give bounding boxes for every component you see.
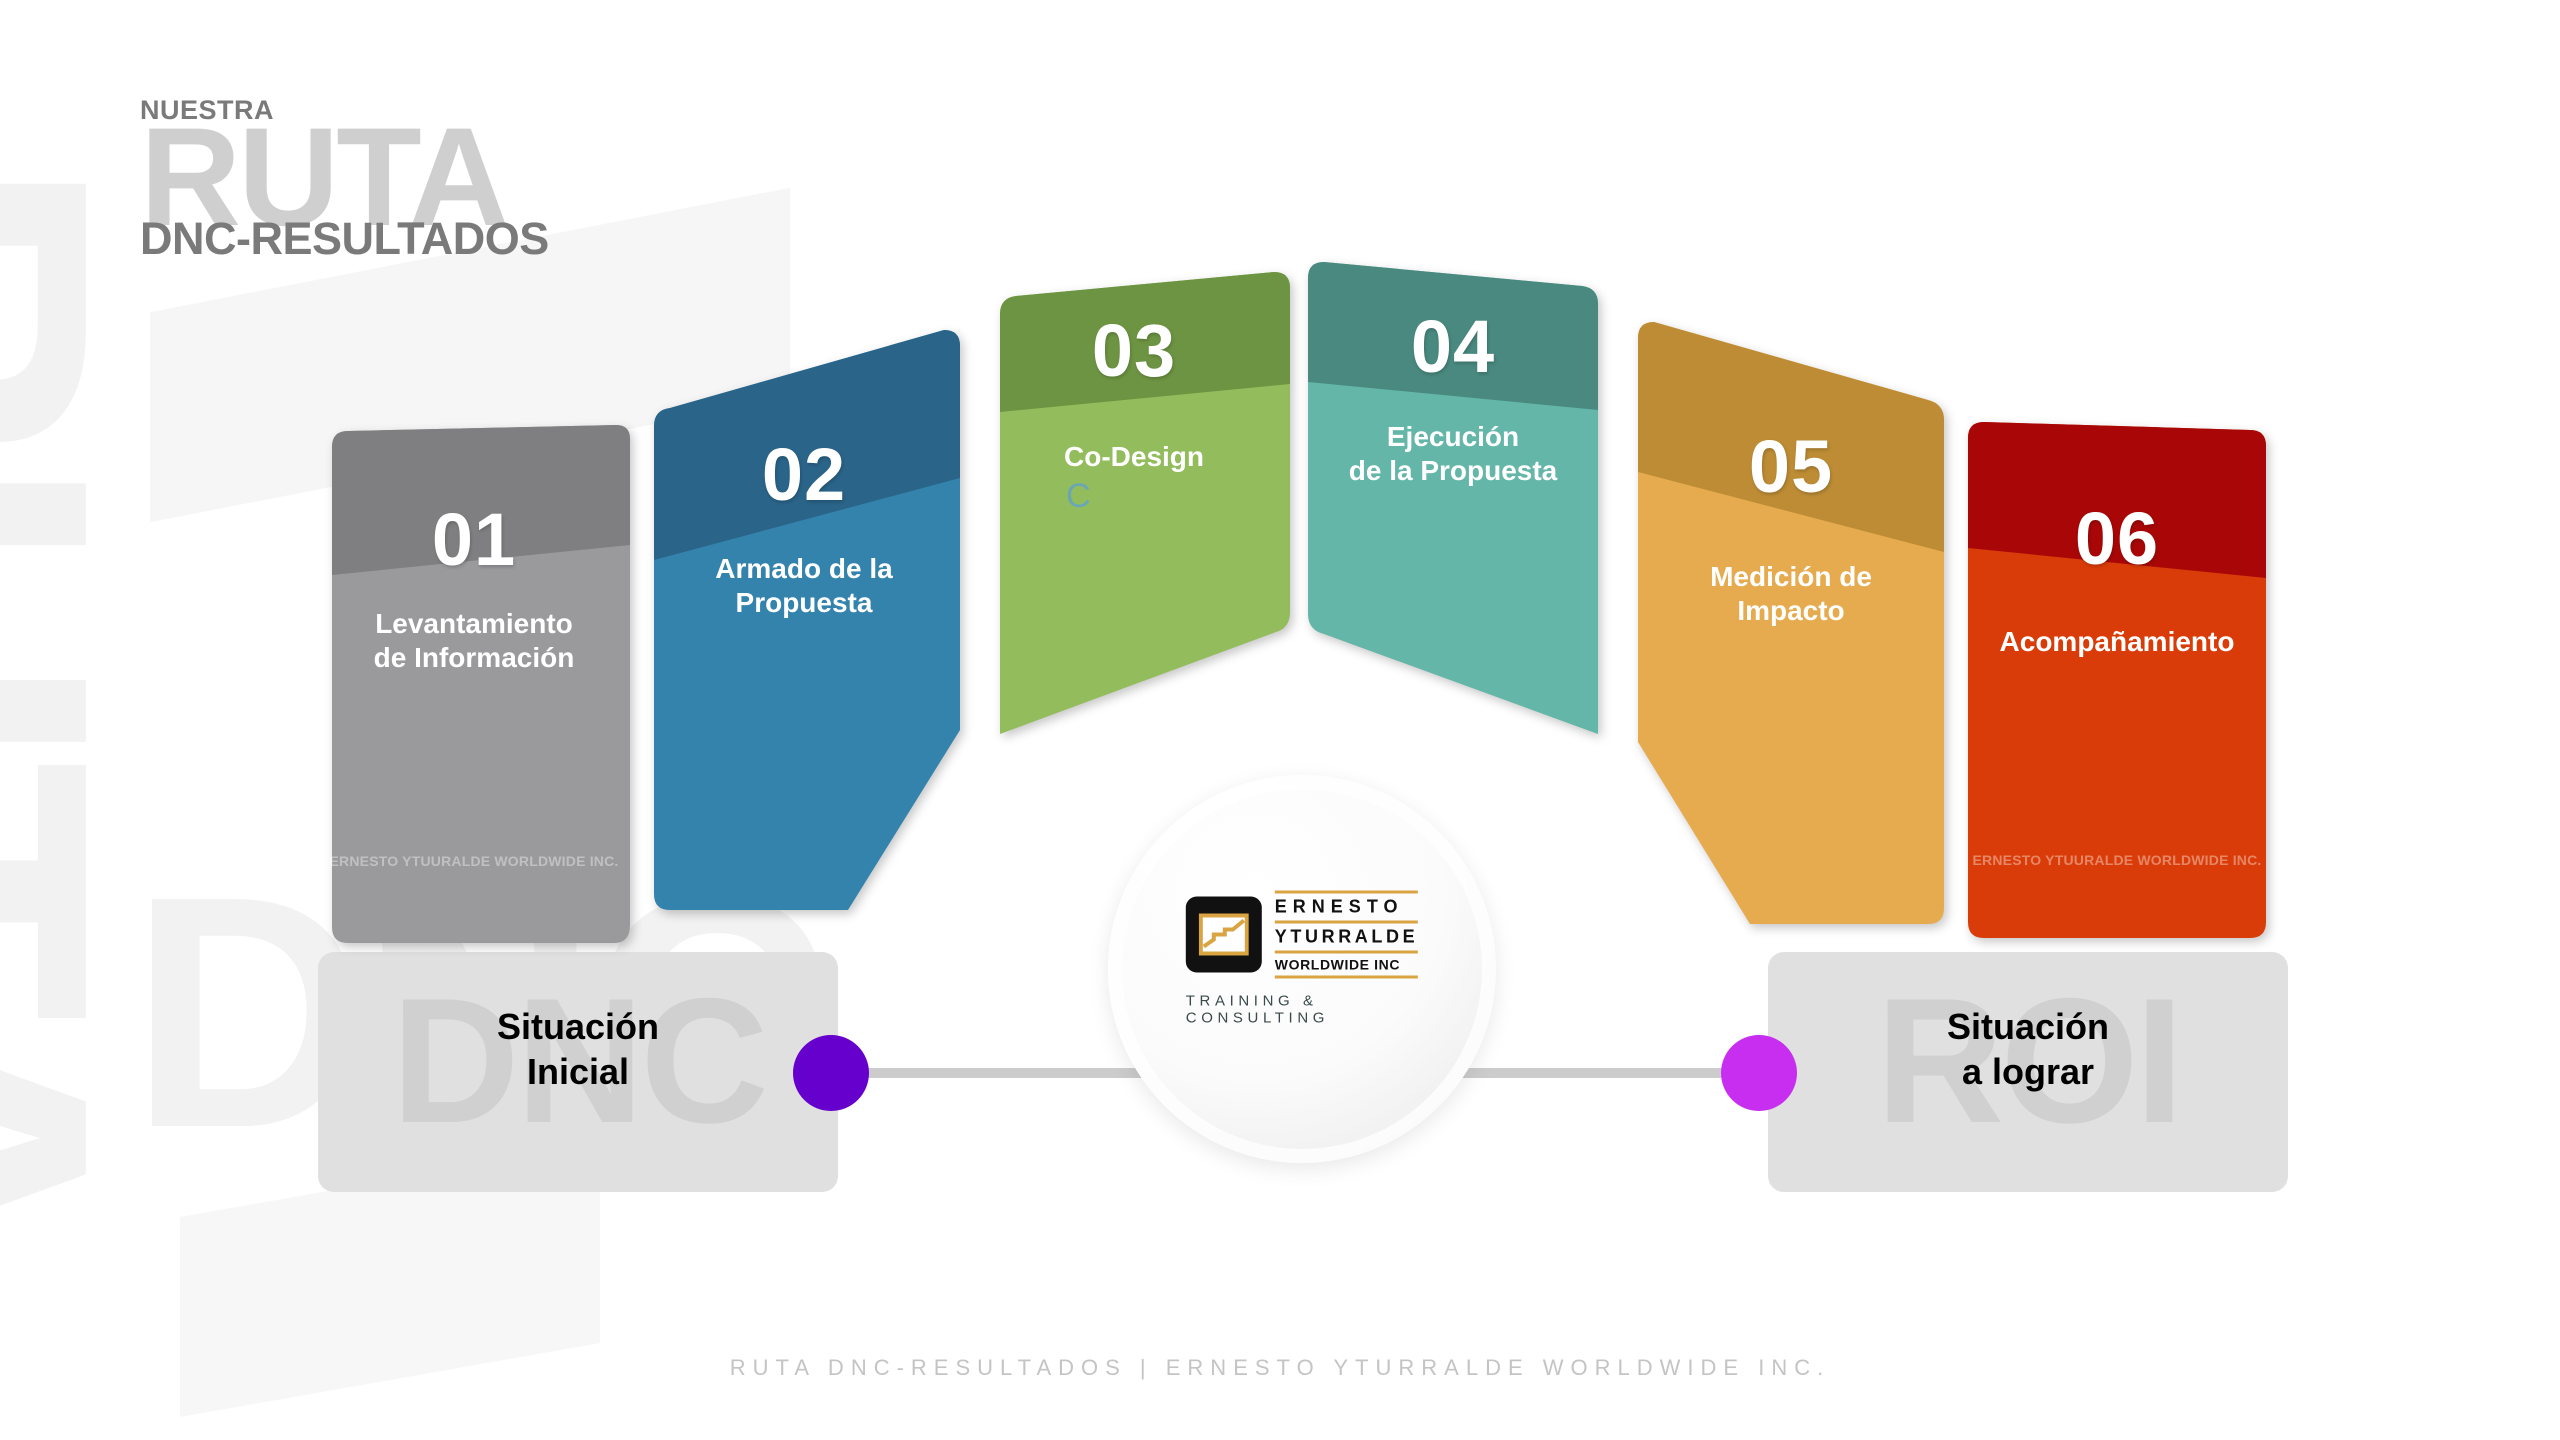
step-card-02-title-line2: Propuesta (648, 586, 960, 620)
step-card-04-number: 04 (1308, 310, 1598, 384)
logo-rule-mid2 (1275, 951, 1418, 954)
logo-rule-mid1 (1275, 921, 1418, 924)
step-card-02[interactable]: 02 Armado de la Propuesta (648, 330, 960, 910)
step-card-05[interactable]: 05 Medición de Impacto (1638, 322, 1950, 924)
step-card-01-title-line2: de Información (318, 641, 630, 675)
step-card-04[interactable]: 04 Ejecución de la Propuesta (1308, 262, 1620, 734)
logo-rule-bottom (1275, 976, 1418, 979)
step-card-06-title-line1: Acompañamiento (1968, 625, 2266, 659)
chart-growth-icon (1186, 897, 1262, 973)
step-card-05-number: 05 (1638, 430, 1944, 504)
step-card-03-number: 03 (978, 314, 1290, 388)
step-card-01-watermark: ERNESTO YTUURALDE WORLDWIDE INC. (318, 853, 630, 869)
milestone-dot-goal (1721, 1035, 1797, 1111)
step-card-03[interactable]: 03 Co-Design C (978, 272, 1290, 734)
step-card-02-number: 02 (648, 438, 960, 512)
chart-growth-icon-svg (1199, 914, 1249, 956)
company-logo-content: ERNESTO YTURRALDE WORLDWIDE INC TRAINING… (1186, 888, 1418, 1027)
page-header: NUESTRA RUTA DNC-RESULTADOS (140, 95, 549, 265)
step-card-01-title: Levantamiento de Información (318, 607, 630, 675)
step-card-05-title-line2: Impacto (1638, 594, 1944, 628)
step-card-02-title-line1: Armado de la (648, 552, 960, 586)
logo-line-worldwide: WORLDWIDE INC (1275, 957, 1418, 973)
step-card-03-title-line1: Co-Design (978, 440, 1290, 474)
logo-line-ernesto: ERNESTO (1275, 897, 1418, 918)
page-footer: RUTA DNC-RESULTADOS | ERNESTO YTURRALDE … (0, 1355, 2560, 1381)
step-card-01-title-line1: Levantamiento (318, 607, 630, 641)
step-card-06-title: Acompañamiento (1968, 625, 2266, 659)
step-card-01[interactable]: 01 Levantamiento de Información ERNESTO … (318, 425, 630, 943)
step-card-05-title-line1: Medición de (1638, 560, 1944, 594)
step-card-02-title: Armado de la Propuesta (648, 552, 960, 620)
step-card-04-title: Ejecución de la Propuesta (1308, 420, 1598, 488)
step-card-03-stray-character: C (1066, 477, 1091, 516)
header-subtitle: DNC-RESULTADOS (140, 213, 549, 265)
step-card-06[interactable]: 06 Acompañamiento ERNESTO YTUURALDE WORL… (1968, 420, 2280, 938)
company-logo-row: ERNESTO YTURRALDE WORLDWIDE INC (1186, 888, 1418, 982)
company-logo-badge: ERNESTO YTURRALDE WORLDWIDE INC TRAINING… (1108, 775, 1496, 1163)
logo-line-yturralde: YTURRALDE (1275, 927, 1418, 948)
company-logo-wordmark: ERNESTO YTURRALDE WORLDWIDE INC (1275, 888, 1418, 982)
step-card-06-watermark: ERNESTO YTUURALDE WORLDWIDE INC. (1968, 852, 2266, 868)
step-card-06-number: 06 (1968, 502, 2266, 576)
logo-tagline: TRAINING & CONSULTING (1186, 993, 1418, 1027)
step-card-01-number: 01 (318, 503, 630, 577)
step-card-04-title-line1: Ejecución (1308, 420, 1598, 454)
step-card-05-title: Medición de Impacto (1638, 560, 1944, 628)
milestone-dot-initial (793, 1035, 869, 1111)
logo-rule-top (1275, 891, 1418, 894)
step-card-04-title-line2: de la Propuesta (1308, 454, 1598, 488)
step-card-03-title: Co-Design (978, 440, 1290, 474)
